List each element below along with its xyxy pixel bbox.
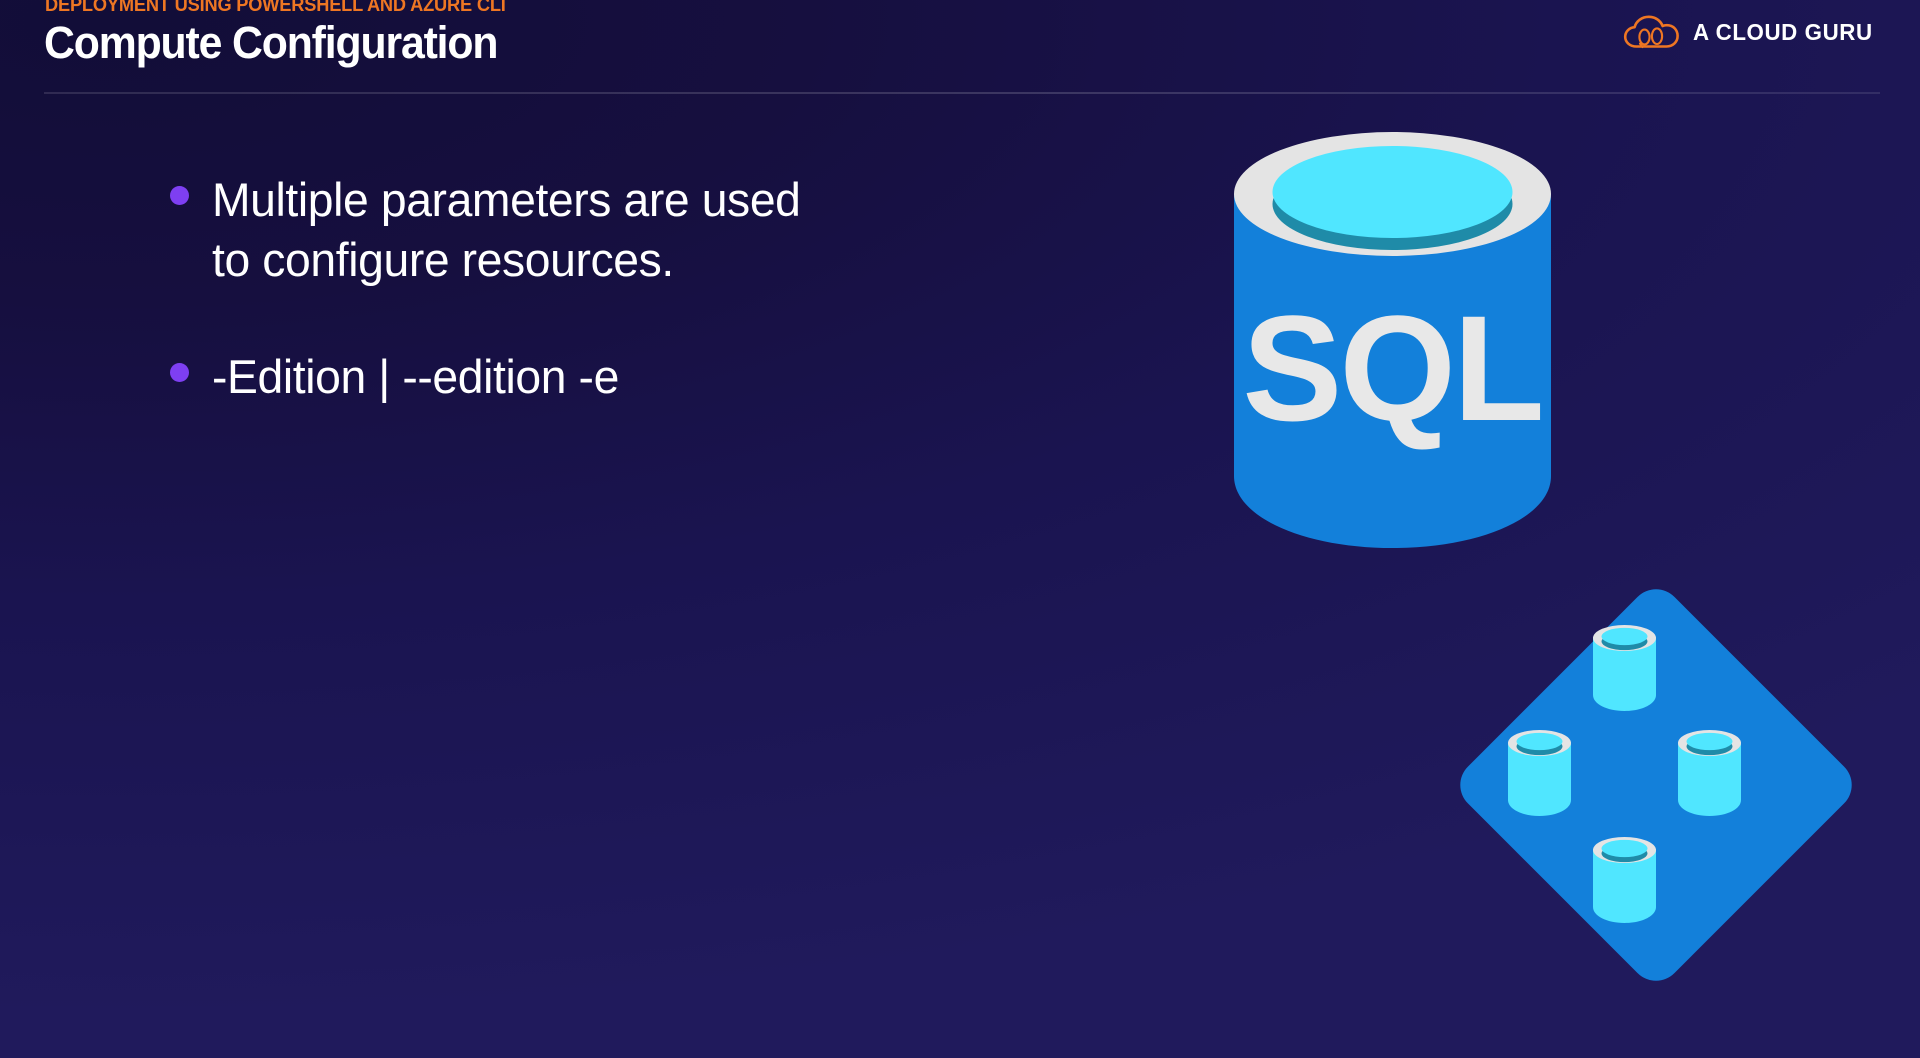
bullet-list: Multiple parameters are used to configur…: [170, 170, 960, 407]
pool-cylinder: [1678, 730, 1741, 816]
list-item: -Edition | --edition -e: [170, 347, 960, 407]
bullet-text: -Edition | --edition -e: [212, 347, 949, 407]
header-divider: [44, 92, 1880, 94]
azure-sql-elastic-pool-icon: [1446, 565, 1876, 1005]
page-title: Compute Configuration: [44, 17, 497, 69]
brand-logo: A CLOUD GURU: [1623, 15, 1878, 49]
sql-label: SQL: [1242, 284, 1541, 452]
bullet-dot-icon: [170, 186, 189, 205]
pool-cylinder: [1593, 837, 1656, 923]
azure-sql-database-icon: SQL: [1230, 128, 1555, 556]
bullet-dot-icon: [170, 363, 189, 382]
list-item: Multiple parameters are used to configur…: [170, 170, 960, 289]
cloud-icon: [1623, 15, 1679, 49]
brand-name: A CLOUD GURU: [1693, 19, 1873, 46]
slide-header: DEPLOYMENT USING POWERSHELL AND AZURE CL…: [0, 0, 1920, 100]
pool-cylinder: [1508, 730, 1571, 816]
presentation-slide: DEPLOYMENT USING POWERSHELL AND AZURE CL…: [0, 0, 1920, 1058]
slide-eyebrow-label: DEPLOYMENT USING POWERSHELL AND AZURE CL…: [45, 0, 506, 17]
bullet-text: Multiple parameters are used to configur…: [212, 170, 949, 289]
pool-cylinder: [1593, 625, 1656, 711]
